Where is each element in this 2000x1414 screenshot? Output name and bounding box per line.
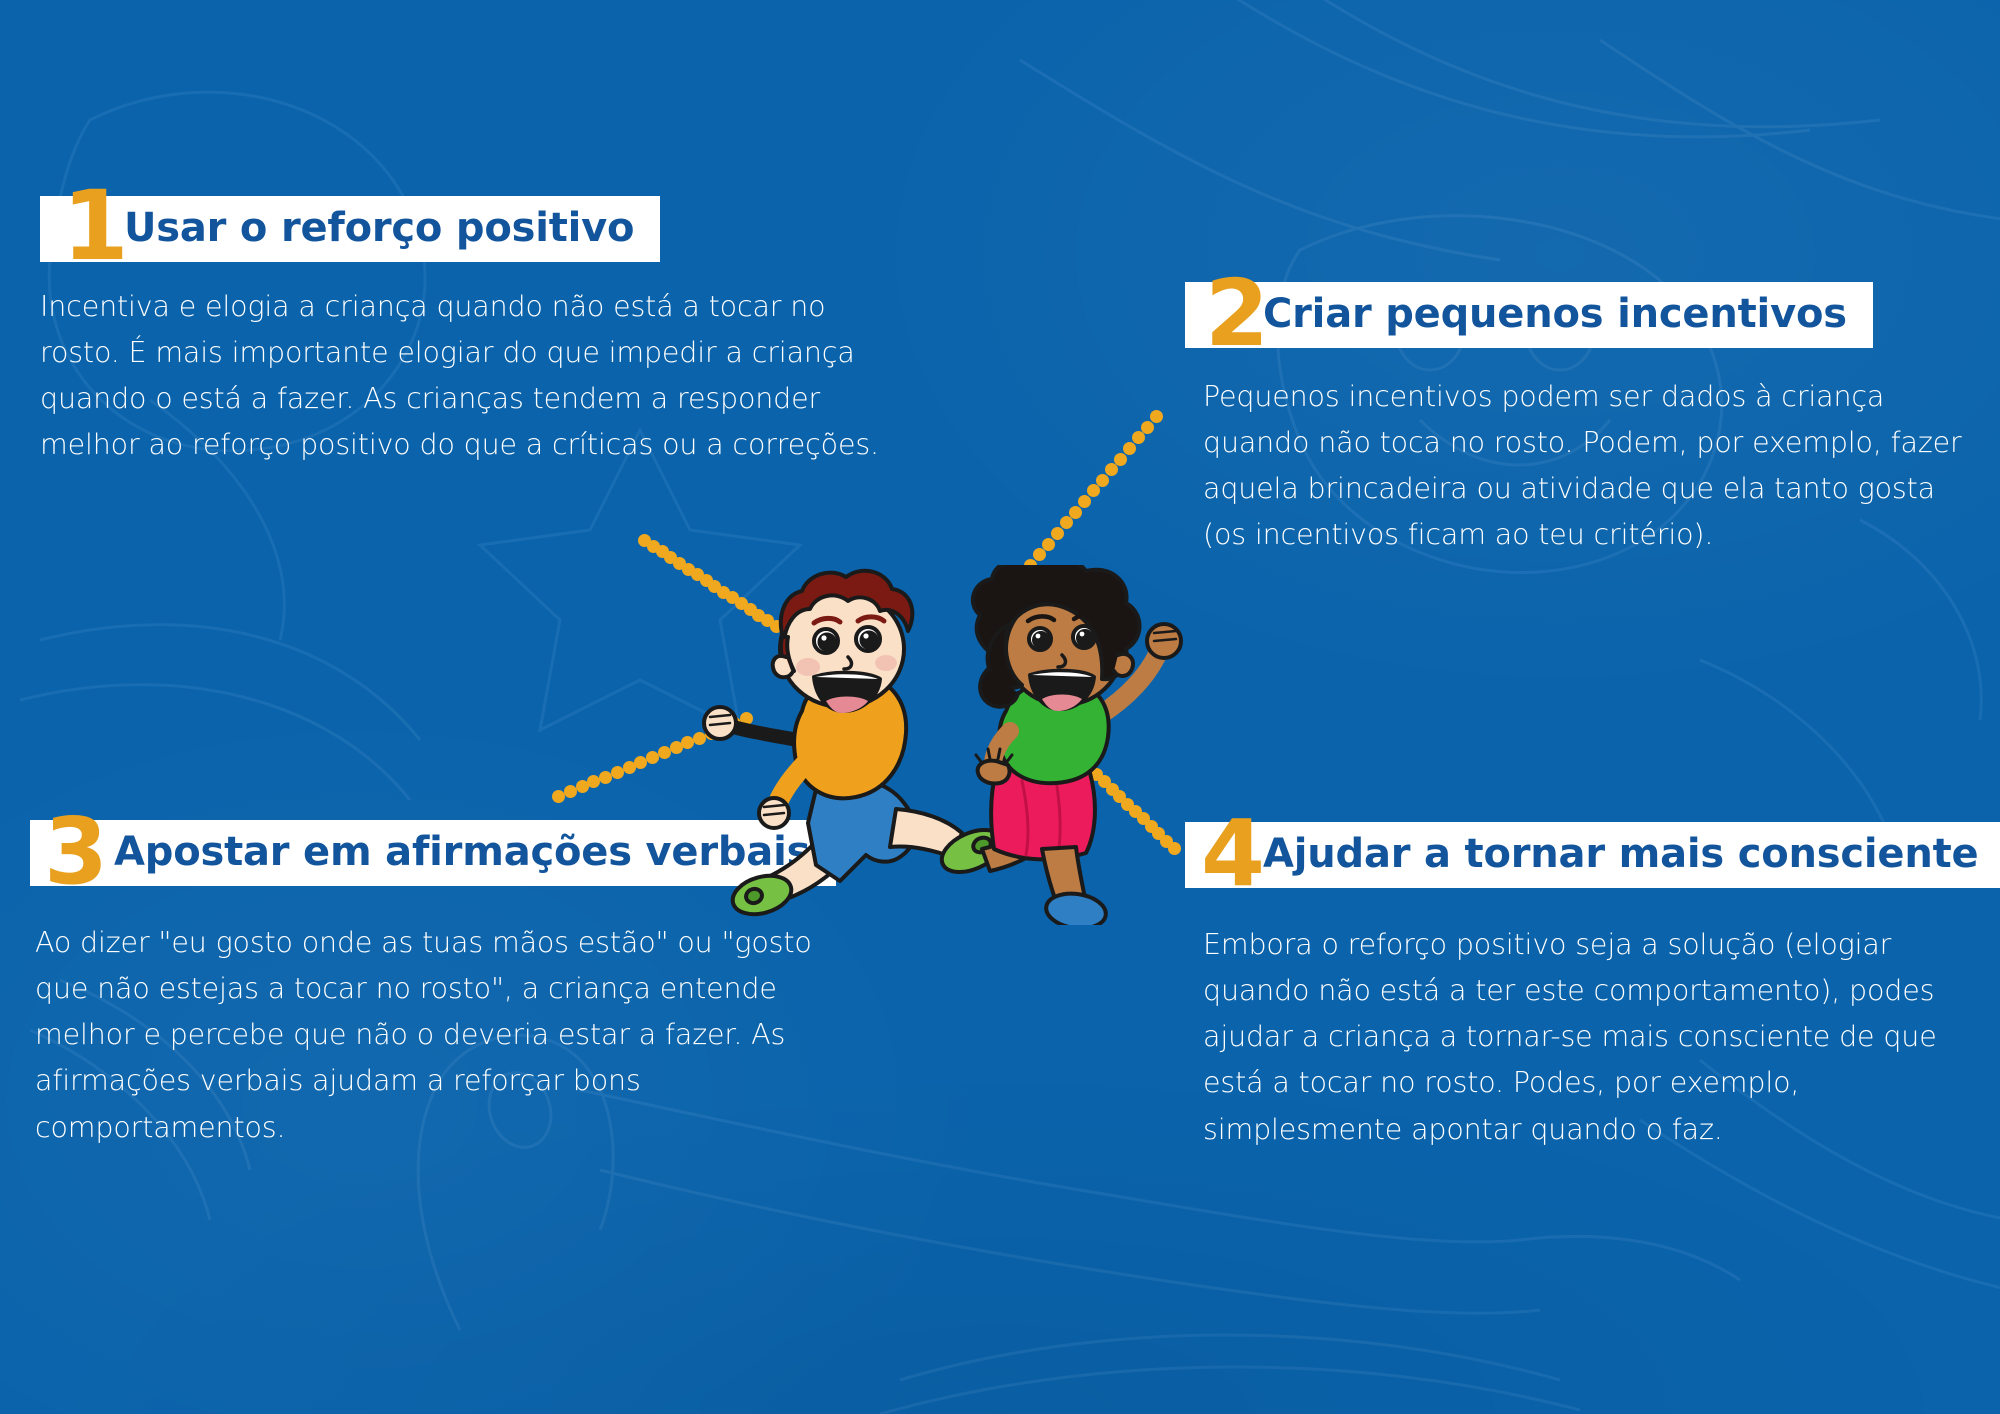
connector-dot <box>1105 463 1118 476</box>
section-1-number: 1 <box>62 189 126 264</box>
connector-dot <box>564 785 577 798</box>
connector-dot <box>1141 421 1154 434</box>
connector-dot <box>623 761 636 774</box>
connector-dot <box>1042 538 1055 551</box>
two-happy-children-illustration <box>690 565 1210 925</box>
connector-dot <box>1069 506 1082 519</box>
connector-dot <box>1123 442 1136 455</box>
connector-dot <box>670 741 683 754</box>
connector-dot <box>1132 431 1145 444</box>
section-2-body: Pequenos incentivos podem ser dados à cr… <box>1203 374 1963 559</box>
connector-dot <box>1051 527 1064 540</box>
section-1-heading: 1 Usar o reforço positivo <box>40 196 660 262</box>
connector-dot <box>599 771 612 784</box>
connector-dot <box>638 534 651 547</box>
section-2-heading: 2 Criar pequenos incentivos <box>1185 282 1873 348</box>
connector-dot <box>1114 453 1127 466</box>
section-2-title-plate: Criar pequenos incentivos <box>1185 282 1873 348</box>
connector-dot <box>1096 474 1109 487</box>
section-2-title: Criar pequenos incentivos <box>1263 294 1847 334</box>
section-3-number: 3 <box>44 816 105 888</box>
connector-dot <box>673 557 686 570</box>
connector-dot <box>1060 516 1073 529</box>
connector-dot <box>1033 548 1046 561</box>
connector-dot <box>1078 495 1091 508</box>
connector-dot <box>658 746 671 759</box>
connector-dot <box>1087 484 1100 497</box>
section-1-title-plate: Usar o reforço positivo <box>40 196 660 262</box>
connector-dot <box>647 540 660 553</box>
connector-dot <box>656 545 669 558</box>
connector-dot <box>611 766 624 779</box>
section-4-heading: 4 Ajudar a tornar mais consciente <box>1185 822 2000 888</box>
section-4-title: Ajudar a tornar mais consciente <box>1263 834 1978 874</box>
connector-dot <box>646 751 659 764</box>
infographic-canvas: 1 Usar o reforço positivo Incentiva e el… <box>0 0 2000 1414</box>
section-1: 1 Usar o reforço positivo Incentiva e el… <box>40 196 940 469</box>
section-3-body: Ao dizer "eu gosto onde as tuas mãos est… <box>35 920 835 1151</box>
connector-dot <box>552 790 565 803</box>
section-1-title: Usar o reforço positivo <box>124 208 634 248</box>
connector-dot <box>576 780 589 793</box>
section-4-title-plate: Ajudar a tornar mais consciente <box>1185 822 2000 888</box>
section-4: 4 Ajudar a tornar mais consciente Embora… <box>1185 822 1975 1153</box>
section-1-body: Incentiva e elogia a criança quando não … <box>40 284 900 469</box>
section-2: 2 Criar pequenos incentivos Pequenos inc… <box>1185 282 1975 559</box>
connector-dot <box>587 775 600 788</box>
section-2-number: 2 <box>1205 278 1266 350</box>
section-4-body: Embora o reforço positivo seja a solução… <box>1203 922 1963 1153</box>
connector-dot <box>664 551 677 564</box>
section-4-number: 4 <box>1201 818 1262 890</box>
connector-dot <box>634 756 647 769</box>
connector-dot <box>1150 410 1163 423</box>
